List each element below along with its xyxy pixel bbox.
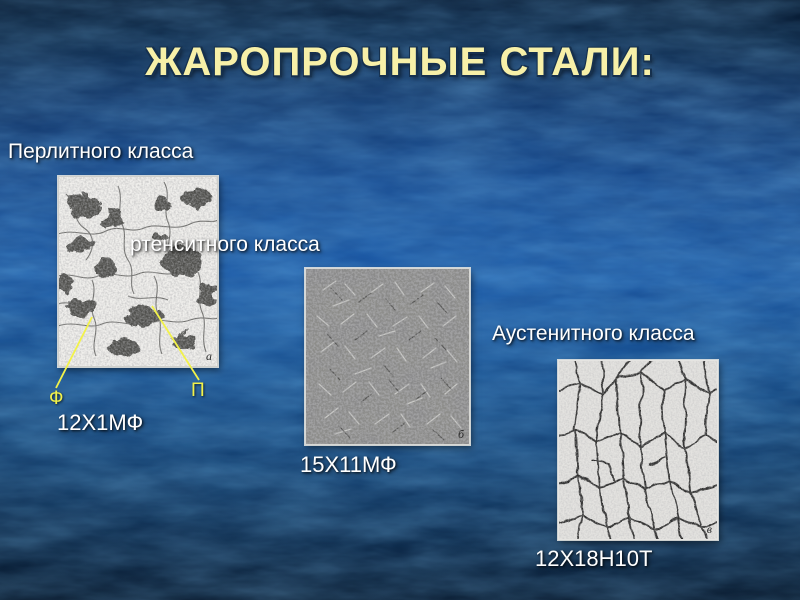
slide-canvas: ЖАРОПРОЧНЫЕ СТАЛИ: — [0, 0, 800, 600]
pearlite-micrograph: а — [58, 176, 218, 367]
austenite-steel-grade: 12Х18Н10Т — [535, 546, 652, 572]
martensite-class-label: ртенситного класса — [130, 233, 320, 257]
martensite-micrograph: б — [305, 268, 470, 445]
pearlite-class-label: Перлитного класса — [8, 140, 193, 164]
ferrite-annotation-label: Ф — [49, 389, 63, 408]
pearlite-steel-grade: 12Х1МФ — [57, 410, 143, 436]
martensite-steel-grade: 15Х11МФ — [300, 452, 397, 478]
micrograph-index-letter: в — [707, 522, 712, 537]
micrograph-index-letter: б — [458, 427, 464, 442]
page-title: ЖАРОПРОЧНЫЕ СТАЛИ: — [0, 40, 800, 85]
micrograph-index-letter: а — [206, 349, 212, 364]
pearlite-annotation-label: П — [191, 381, 205, 400]
austenite-micrograph: в — [558, 360, 718, 540]
austenite-class-label: Аустенитного класса — [492, 322, 695, 346]
